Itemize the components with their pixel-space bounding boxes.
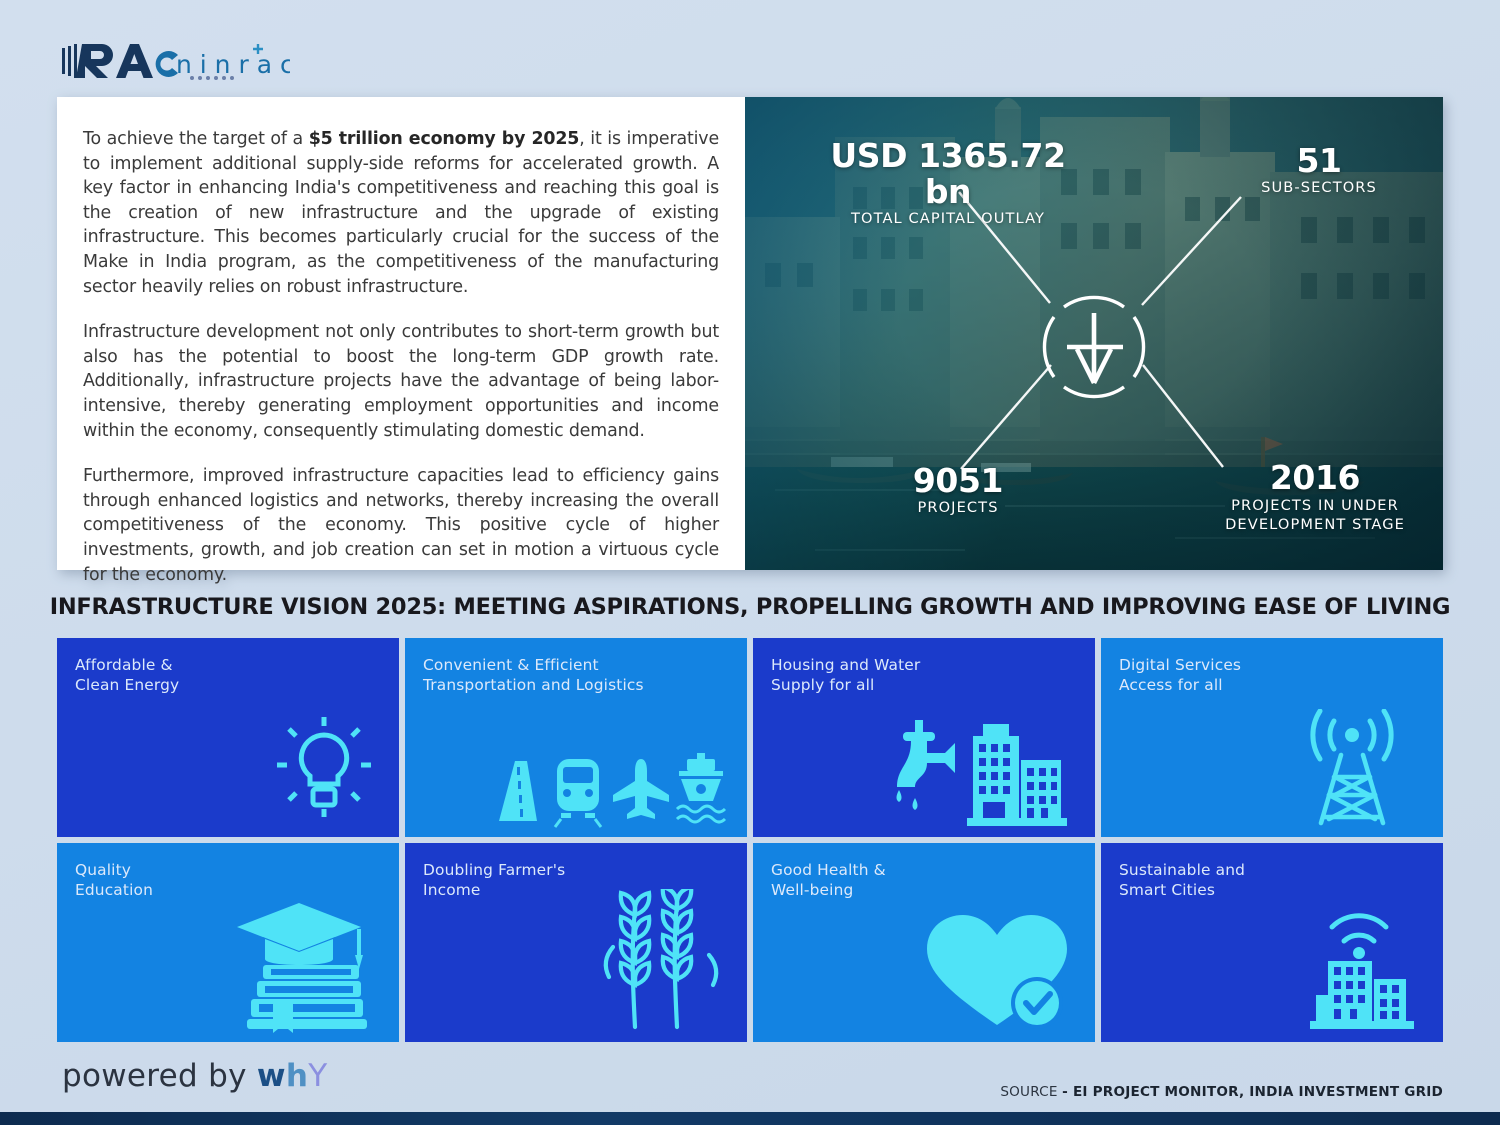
card-label: Affordable & Clean Energy (75, 656, 399, 695)
card-label: Good Health & Well-being (771, 861, 1095, 900)
top-panel-row: To achieve the target of a $5 trillion e… (57, 97, 1443, 570)
card-label: Sustainable and Smart Cities (1119, 861, 1443, 900)
card-affordable-clean-energy[interactable]: Affordable & Clean Energy (57, 638, 399, 837)
source-value: - EI PROJECT MONITOR, INDIA INVESTMENT G… (1062, 1084, 1443, 1100)
hero-image-panel: USD 1365.72 bn TOTAL CAPITAL OUTLAY 51 S… (745, 97, 1443, 570)
stat-projects: 9051 PROJECTS (863, 463, 1053, 517)
graduation-books-icon (233, 899, 383, 1034)
p1-lead: To achieve the target of a (83, 129, 309, 149)
card-label: Housing and Water Supply for all (771, 656, 1095, 695)
card-label: Digital Services Access for all (1119, 656, 1443, 695)
stat-label: SUB-SECTORS (1209, 179, 1429, 197)
faucet-icon (897, 720, 956, 810)
infrastructure-crosshair-icon (1044, 297, 1143, 396)
stat-label: PROJECTS IN UNDER DEVELOPMENT STAGE (1195, 496, 1435, 534)
graduation-cap-icon (237, 903, 363, 969)
stat-value: 51 (1209, 143, 1429, 179)
intro-text-card: To achieve the target of a $5 trillion e… (57, 97, 745, 570)
why-y: Y (308, 1058, 327, 1094)
card-digital-services[interactable]: Digital Services Access for all (1101, 638, 1443, 837)
card-transportation-logistics[interactable]: Convenient & Efficient Transportation an… (405, 638, 747, 837)
intro-paragraph-3: Furthermore, improved infrastructure cap… (83, 464, 719, 587)
stat-label: PROJECTS (863, 499, 1053, 517)
card-quality-education[interactable]: Quality Education (57, 843, 399, 1042)
lightbulb-icon (265, 711, 383, 829)
vision-card-grid: Affordable & Clean Energy Convenient & E… (57, 638, 1443, 1042)
card-doubling-farmers-income[interactable]: Doubling Farmer's Income (405, 843, 747, 1042)
powered-by-why-logo[interactable]: powered by whY (62, 1058, 328, 1094)
source-credit: SOURCE - EI PROJECT MONITOR, INDIA INVES… (1000, 1084, 1443, 1100)
why-h: h (286, 1058, 308, 1094)
ship-icon (677, 753, 725, 822)
svg-text:n i n r a c: n i n r a c (176, 50, 290, 79)
wheat-icon (591, 889, 731, 1034)
buildings-icon (967, 724, 1067, 826)
train-icon (555, 759, 601, 827)
stat-sub-sectors: 51 SUB-SECTORS (1209, 143, 1429, 197)
why-w: w (257, 1058, 286, 1094)
p1-highlight: $5 trillion economy by 2025 (309, 129, 580, 149)
wifi-arc (1332, 916, 1386, 941)
stat-value: USD 1365.72 bn (803, 138, 1093, 210)
heart-check-icon (919, 909, 1079, 1034)
tap-and-buildings-icon (889, 714, 1079, 829)
powered-prefix: powered by (62, 1058, 257, 1094)
road-icon (499, 761, 537, 821)
footer-bar (0, 1112, 1500, 1125)
stat-projects-under-development: 2016 PROJECTS IN UNDER DEVELOPMENT STAGE (1195, 460, 1435, 534)
stat-value: 2016 (1195, 460, 1435, 496)
source-label: SOURCE (1000, 1084, 1062, 1100)
stat-value: 9051 (863, 463, 1053, 499)
smart-city-icon (1292, 899, 1427, 1034)
card-label: Quality Education (75, 861, 399, 900)
card-label: Convenient & Efficient Transportation an… (423, 656, 747, 695)
transport-modes-icon (481, 749, 731, 829)
section-title: INFRASTRUCTURE VISION 2025: MEETING ASPI… (0, 594, 1500, 620)
card-housing-water-supply[interactable]: Housing and Water Supply for all (753, 638, 1095, 837)
broadcast-tower-icon (1277, 709, 1427, 829)
airplane-icon (613, 759, 669, 819)
intro-paragraph-2: Infrastructure development not only cont… (83, 320, 719, 443)
stat-label: TOTAL CAPITAL OUTLAY (803, 210, 1093, 228)
card-sustainable-smart-cities[interactable]: Sustainable and Smart Cities (1101, 843, 1443, 1042)
card-good-health-wellbeing[interactable]: Good Health & Well-being (753, 843, 1095, 1042)
intro-paragraph-1: To achieve the target of a $5 trillion e… (83, 127, 719, 299)
p1-rest: , it is imperative to implement addition… (83, 129, 719, 297)
stat-total-capital-outlay: USD 1365.72 bn TOTAL CAPITAL OUTLAY (803, 138, 1093, 228)
infographic-page: n i n r a c To achieve the target of a $… (0, 0, 1500, 1125)
books-icon (247, 965, 367, 1033)
eninrac-logo[interactable]: n i n r a c (60, 38, 290, 84)
